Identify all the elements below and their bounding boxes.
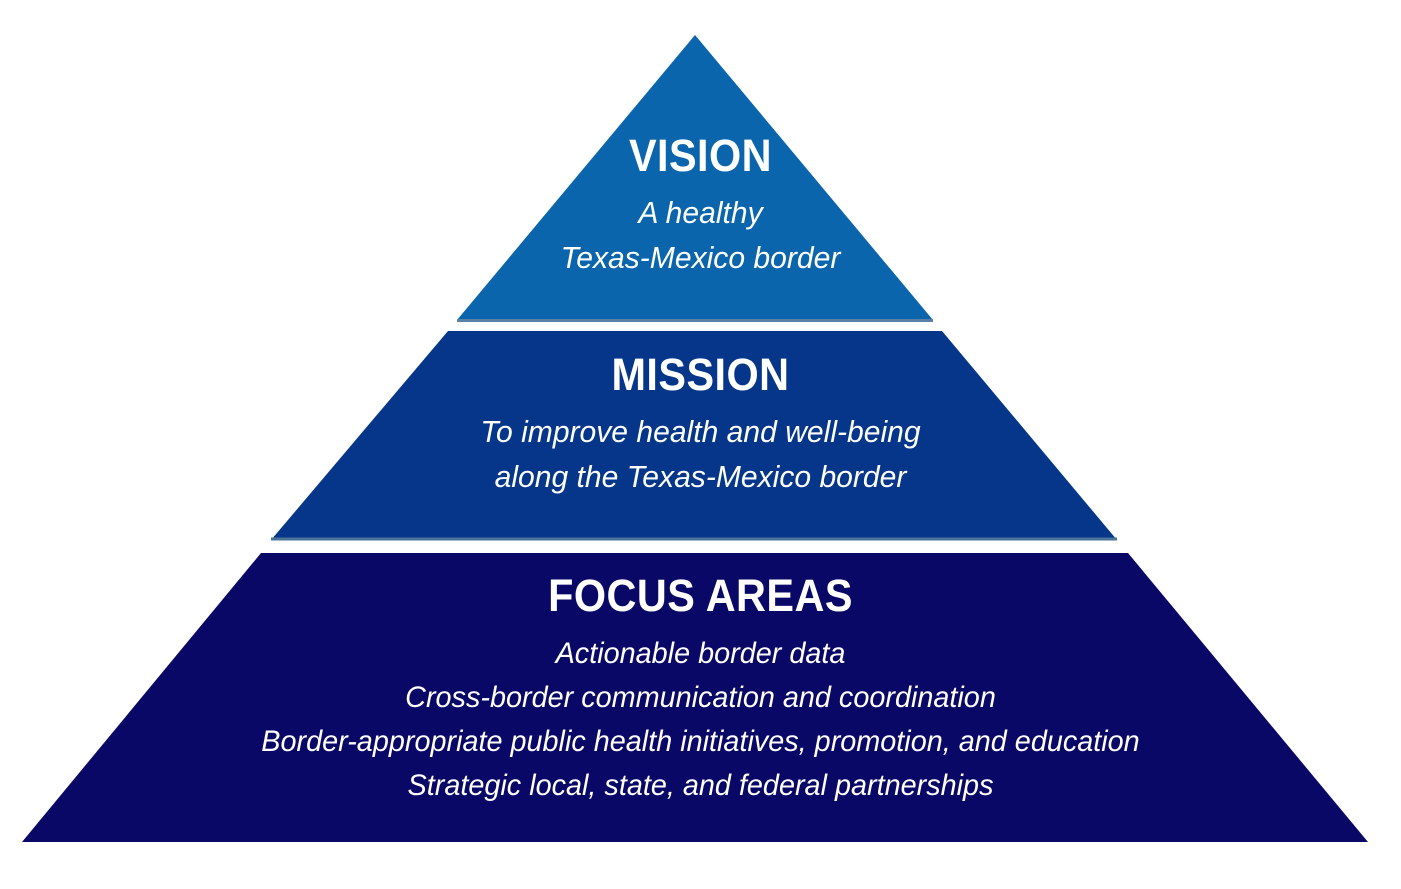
pyramid-shape-group: [0, 0, 1401, 889]
pyramid-tier-mission-shape: [271, 331, 1117, 540]
pyramid-tier-vision-shape: [457, 35, 933, 320]
pyramid-diagram: VISION A healthy Texas-Mexico border MIS…: [0, 0, 1401, 889]
pyramid-tier-focus-areas-shape: [22, 553, 1368, 842]
